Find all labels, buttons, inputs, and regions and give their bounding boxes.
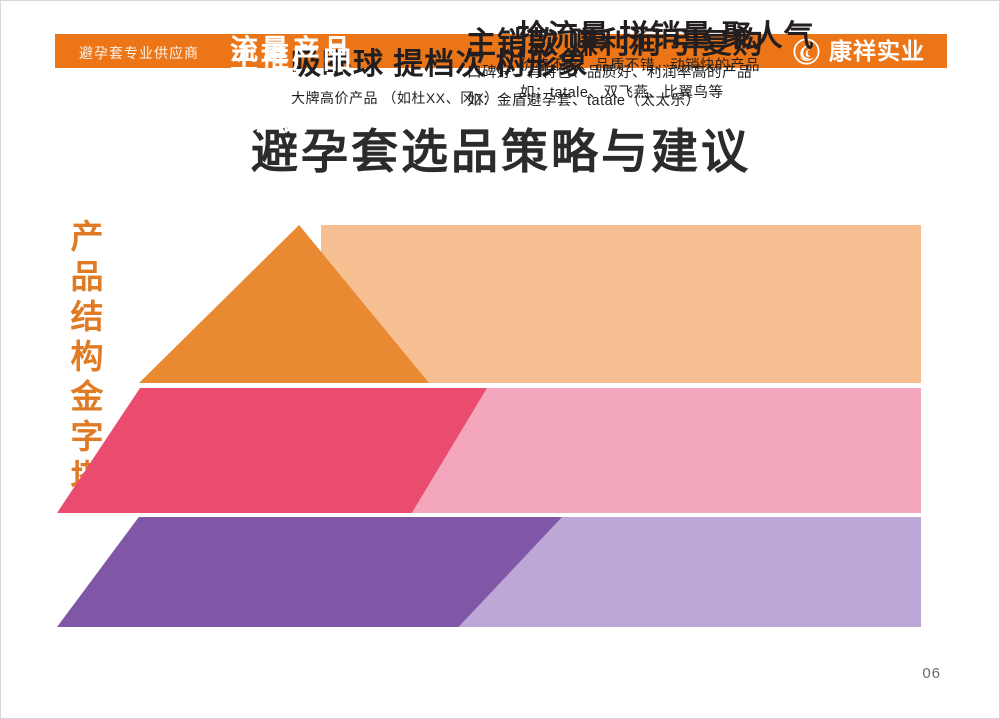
- pyramid-tier-main: [57, 388, 921, 513]
- pyramid-tier-traffic: [57, 517, 921, 627]
- page-number: 06: [922, 665, 941, 682]
- slide-canvas: 避孕套专业供应商 康祥实业 避孕套选品策略与建议 产品结构金字塔 形象 产品 吸…: [0, 0, 1000, 719]
- tier-band-image: [321, 225, 921, 383]
- pyramid-tier-image: [139, 225, 921, 383]
- tier-label-traffic: 流量产品: [187, 34, 397, 66]
- tier-subtext-traffic-1: 价格不高、品质不错、动销快的产品: [520, 54, 760, 75]
- tier-subtext-traffic-2: 如：tatale、双飞燕、比翼鸟等: [520, 81, 723, 102]
- tier-shape-main: [57, 388, 487, 513]
- tier-heading-traffic: 抢流量 拼销量 聚人气: [517, 11, 815, 55]
- pyramid-diagram: 形象 产品 吸眼球 提档次 树形象 大牌高价产品 （如杜XX、冈X） 主推产品 …: [1, 1, 1000, 719]
